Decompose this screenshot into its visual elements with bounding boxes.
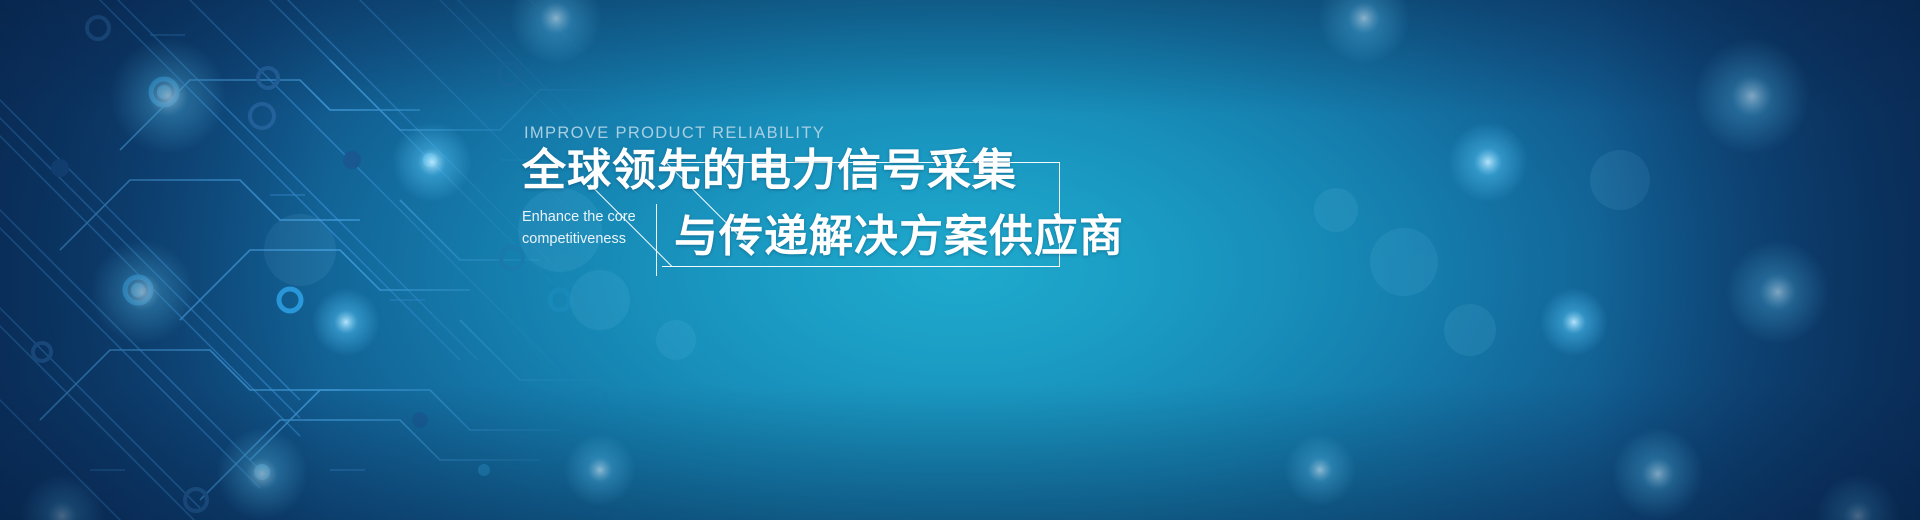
vertical-divider bbox=[656, 204, 657, 276]
headline-line-2: 与传递解决方案供应商 bbox=[674, 214, 1124, 261]
subtitle-text: Enhance the core competitiveness bbox=[522, 206, 650, 250]
hero-text-block: IMPROVE PRODUCT RELIABILITY 全球领先的电力信号采集 … bbox=[524, 124, 1064, 284]
eyebrow-text: IMPROVE PRODUCT RELIABILITY bbox=[524, 124, 825, 143]
headline-line-1: 全球领先的电力信号采集 bbox=[522, 148, 1017, 195]
hero-banner: IMPROVE PRODUCT RELIABILITY 全球领先的电力信号采集 … bbox=[0, 0, 1920, 520]
